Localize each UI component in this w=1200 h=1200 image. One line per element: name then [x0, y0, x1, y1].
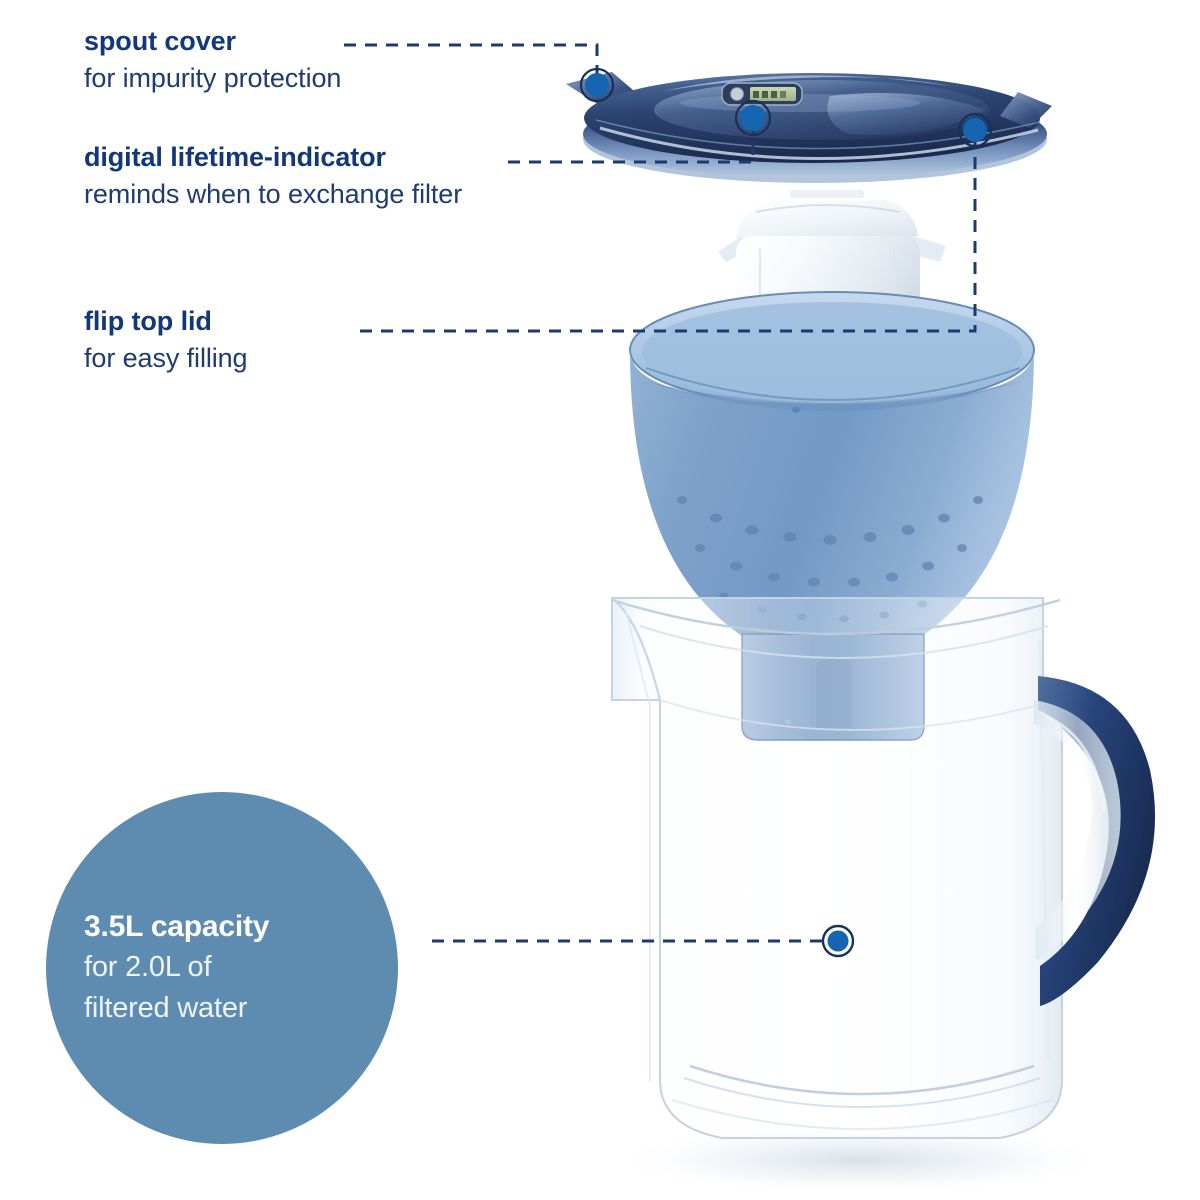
pitcher	[610, 598, 1155, 1194]
callout-subtitle-digital-indicator: reminds when to exchange filter	[84, 178, 462, 211]
digital-indicator-display	[722, 83, 802, 105]
callout-spout-cover: spout cover for impurity protection	[84, 26, 341, 95]
callout-title-digital-indicator: digital lifetime-indicator	[84, 142, 462, 173]
funnel-vent	[792, 407, 800, 413]
lid-assembly	[566, 72, 1052, 183]
callout-title-flip-top-lid: flip top lid	[84, 306, 247, 337]
cartridge-logo-strip	[790, 190, 864, 198]
pitcher-body	[612, 598, 1062, 1138]
callout-subtitle-flip-top-lid: for easy filling	[84, 342, 247, 375]
capacity-subtitle-line1: for 2.0L of	[84, 948, 398, 986]
capacity-subtitle-line2: filtered water	[84, 989, 398, 1027]
capacity-badge: 3.5L capacity for 2.0L of filtered water	[46, 792, 398, 1144]
callout-title-spout-cover: spout cover	[84, 26, 341, 57]
callout-digital-lifetime-indicator: digital lifetime-indicator reminds when …	[84, 142, 462, 211]
callout-flip-top-lid: flip top lid for easy filling	[84, 306, 247, 375]
callout-subtitle-spout-cover: for impurity protection	[84, 62, 341, 95]
diagram-canvas: spout cover for impurity protection digi…	[0, 0, 1200, 1200]
funnel-rim-inner	[642, 302, 1022, 402]
capacity-title: 3.5L capacity	[84, 909, 398, 945]
